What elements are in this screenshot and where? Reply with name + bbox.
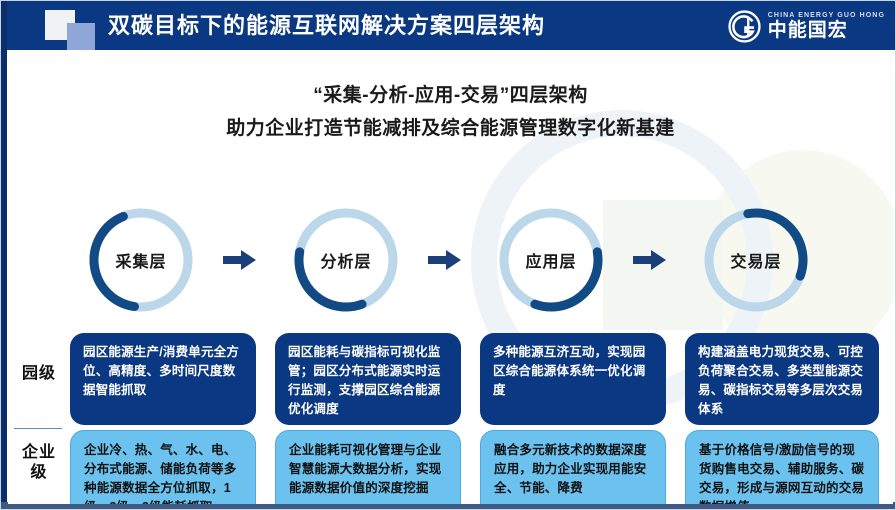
slide-body: “采集-分析-应用-交易”四层架构 助力企业打造节能减排及综合能源管理数字化新基… [8, 50, 893, 504]
row-label-park: 园级 [16, 364, 62, 384]
page-title: 双碳目标下的能源互联网解决方案四层架构 [108, 11, 545, 41]
row-divider [14, 428, 62, 429]
headline-line-2: 助力企业打造节能减排及综合能源管理数字化新基建 [8, 114, 893, 144]
flow-diagram: 采集层 分析层 应用层 [8, 205, 893, 323]
frame-left-bar [1, 1, 7, 510]
card-park-apply[interactable]: 多种能源互济互动，实现园区综合能源体系统一优化调度 [480, 333, 666, 425]
header-banner: 双碳目标下的能源互联网解决方案四层架构 CHINA ENERGY GUO HON… [7, 1, 896, 50]
card-park-trade[interactable]: 构建涵盖电力现货交易、可控负荷聚合交易、多类型能源交易、碳指标交易等多层次交易体… [685, 333, 879, 425]
flow-node-apply[interactable]: 应用层 [496, 205, 606, 315]
header-square-blue-icon [67, 23, 95, 50]
arrow-right-icon [428, 249, 462, 271]
flow-node-trade[interactable]: 交易层 [701, 205, 811, 315]
row-label-enterprise: 企业级 [16, 443, 62, 483]
logo-chinese-text: 中能国宏 [768, 20, 885, 41]
card-enterprise-analyze[interactable]: 企业能耗可视化管理与企业智慧能源大数据分析，实现能源数据价值的深度挖掘 [275, 430, 461, 504]
card-park-collect[interactable]: 园区能源生产/消费单元全方位、高精度、多时间尺度数据智能抓取 [70, 333, 256, 425]
layer-matrix: 园级 企业级 园区能源生产/消费单元全方位、高精度、多时间尺度数据智能抓取 园区… [8, 333, 893, 504]
card-park-analyze[interactable]: 园区能耗与碳指标可视化监管；园区分布式能源实时运行监测，支撑园区综合能源优化调度 [275, 333, 461, 425]
g-circle-logo-icon [728, 10, 761, 43]
slide-root: 双碳目标下的能源互联网解决方案四层架构 CHINA ENERGY GUO HON… [0, 0, 896, 510]
headline-block: “采集-分析-应用-交易”四层架构 助力企业打造节能减排及综合能源管理数字化新基… [8, 82, 893, 144]
card-enterprise-trade[interactable]: 基于价格信号/激励信号的现货购售电交易、辅助服务、碳交易，形成与源网互动的交易数… [685, 430, 879, 504]
flow-node-collect[interactable]: 采集层 [86, 205, 196, 315]
flow-node-label: 应用层 [496, 205, 606, 315]
flow-node-label: 采集层 [86, 205, 196, 315]
arrow-right-icon [633, 249, 667, 271]
card-enterprise-collect[interactable]: 企业冷、热、气、水、电、分布式能源、储能负荷等多种能源数据全方位抓取，1级、2级… [70, 430, 256, 504]
headline-line-1: “采集-分析-应用-交易”四层架构 [8, 82, 893, 110]
card-enterprise-apply[interactable]: 融合多元新技术的数据深度应用，助力企业实现用能安全、节能、降费 [480, 430, 666, 504]
arrow-right-icon [223, 249, 257, 271]
flow-node-analyze[interactable]: 分析层 [291, 205, 401, 315]
brand-logo: CHINA ENERGY GUO HONG 中能国宏 [728, 8, 885, 44]
flow-node-label: 交易层 [701, 205, 811, 315]
flow-node-label: 分析层 [291, 205, 401, 315]
logo-english-text: CHINA ENERGY GUO HONG [768, 11, 885, 20]
